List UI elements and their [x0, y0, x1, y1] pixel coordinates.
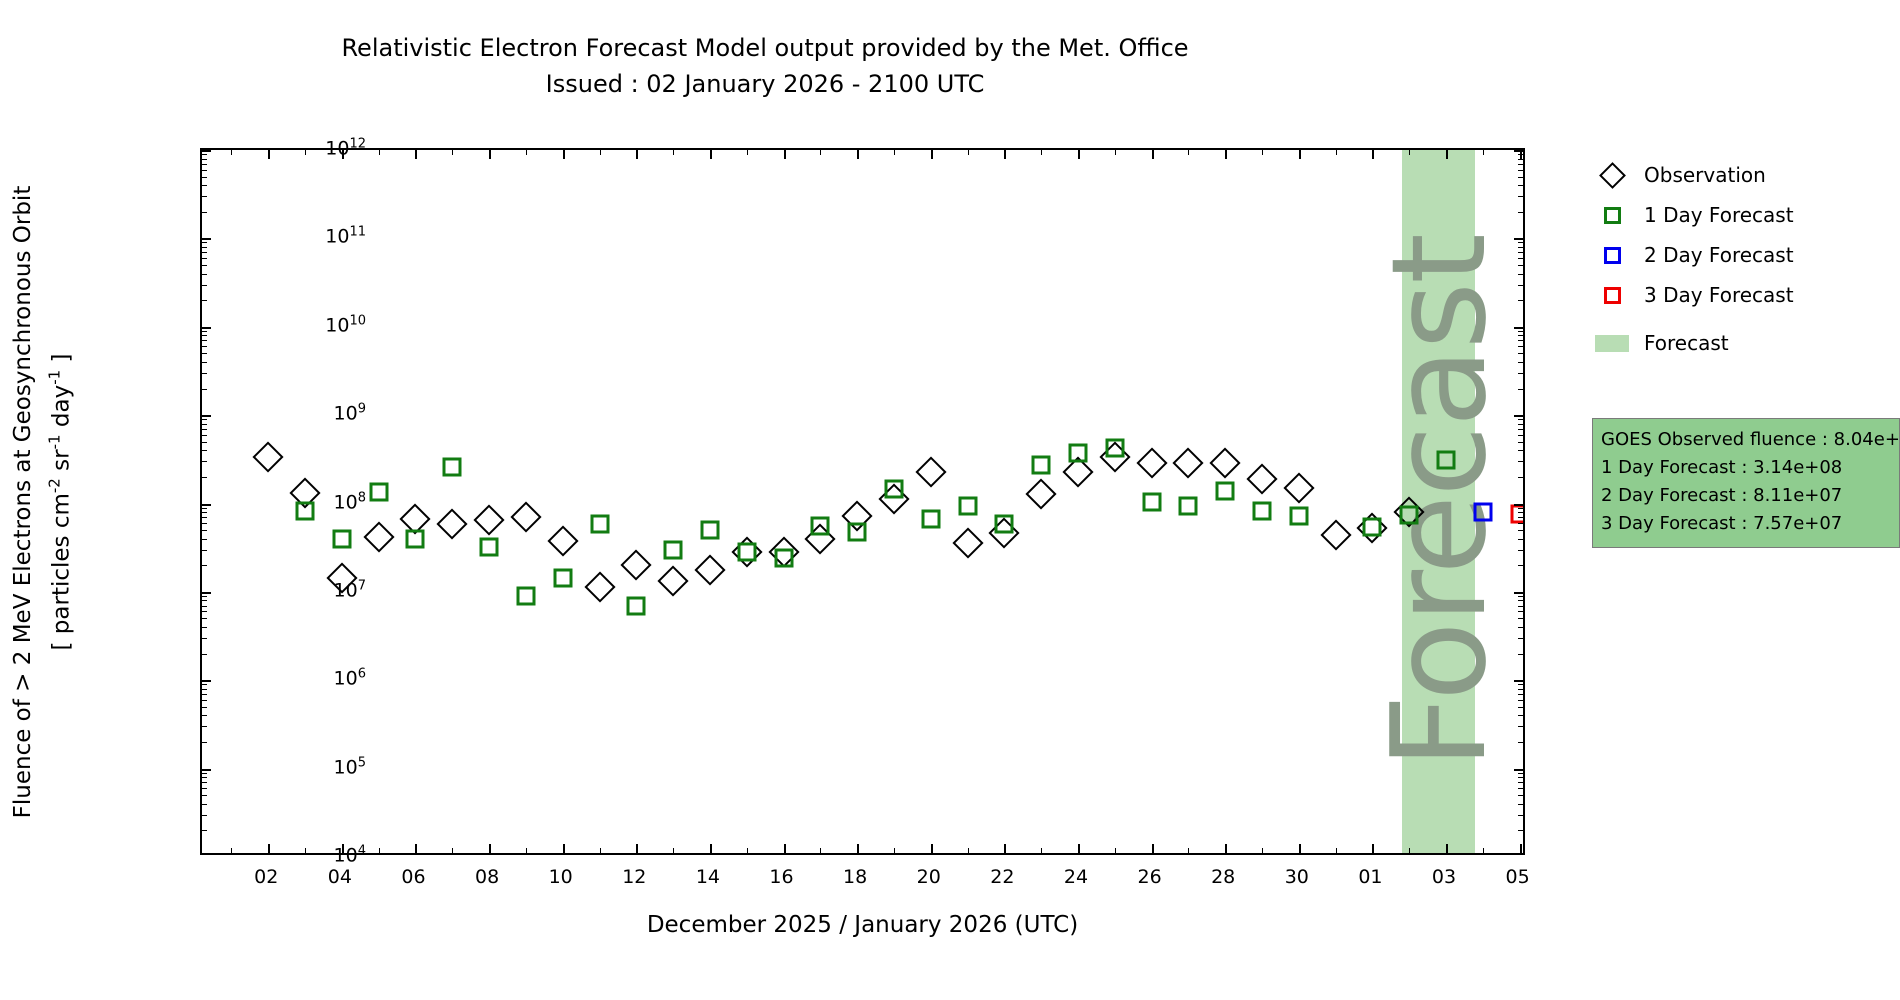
data-point-observation: [1283, 472, 1314, 503]
x-tick-minor: [452, 848, 453, 853]
x-tick-major: [1152, 150, 1154, 159]
y-tick-minor: [202, 523, 207, 524]
x-tick-major: [931, 844, 933, 853]
y-tick-minor: [202, 773, 207, 774]
y-tick-minor: [1518, 170, 1523, 171]
y-tick-minor: [202, 435, 207, 436]
legend-item-2-day-forecast[interactable]: 2 Day Forecast: [1592, 235, 1892, 275]
y-tick-minor: [202, 274, 207, 275]
y-tick-minor: [1518, 424, 1523, 425]
x-tick-label: 28: [1211, 866, 1235, 888]
legend-item-3-day-forecast[interactable]: 3 Day Forecast: [1592, 275, 1892, 315]
x-tick-major: [1004, 150, 1006, 159]
y-tick-minor: [202, 830, 207, 831]
legend-item-observation[interactable]: Observation: [1592, 155, 1892, 195]
y-tick-minor: [1518, 212, 1523, 213]
data-point-1-day-forecast: [884, 480, 903, 499]
y-tick-label: 1011: [246, 225, 366, 248]
x-tick-label: 24: [1064, 866, 1088, 888]
y-tick-minor: [1518, 700, 1523, 701]
y-tick-minor: [202, 331, 207, 332]
x-tick-label: 22: [990, 866, 1014, 888]
y-tick-minor: [202, 429, 207, 430]
x-tick-label: 06: [401, 866, 425, 888]
x-tick-major: [415, 150, 417, 159]
data-point-observation: [437, 508, 468, 539]
legend-label: 1 Day Forecast: [1644, 203, 1794, 227]
y-tick-minor: [1518, 550, 1523, 551]
y-tick-minor: [1518, 177, 1523, 178]
y-tick-minor: [202, 346, 207, 347]
y-tick-minor: [202, 606, 207, 607]
x-tick-minor: [1115, 848, 1116, 853]
x-tick-minor: [747, 150, 748, 155]
y-axis-exp-3: -1: [46, 369, 64, 384]
y-tick-minor: [202, 565, 207, 566]
square-icon: [1604, 287, 1621, 304]
y-tick-major: [202, 238, 211, 240]
y-tick-minor: [202, 654, 207, 655]
y-tick-minor: [1518, 777, 1523, 778]
data-point-1-day-forecast: [921, 509, 940, 528]
y-tick-minor: [1518, 185, 1523, 186]
x-tick-label: 04: [328, 866, 352, 888]
x-tick-minor: [1188, 150, 1189, 155]
y-tick-minor: [202, 517, 207, 518]
x-tick-major: [489, 844, 491, 853]
data-point-1-day-forecast: [774, 549, 793, 568]
legend-swatch: [1592, 166, 1632, 185]
x-tick-major: [1372, 844, 1374, 853]
y-tick-minor: [1518, 252, 1523, 253]
data-point-1-day-forecast: [995, 515, 1014, 534]
x-tick-minor: [452, 150, 453, 155]
x-tick-minor: [894, 150, 895, 155]
x-tick-minor: [526, 150, 527, 155]
y-tick-minor: [202, 362, 207, 363]
data-point-1-day-forecast: [480, 538, 499, 557]
y-tick-minor: [1518, 539, 1523, 540]
data-point-1-day-forecast: [1289, 506, 1308, 525]
legend-item-forecast[interactable]: Forecast: [1592, 323, 1892, 363]
data-point-1-day-forecast: [1363, 518, 1382, 537]
y-tick-minor: [202, 689, 207, 690]
y-tick-major: [202, 680, 211, 682]
y-tick-minor: [1518, 517, 1523, 518]
y-tick-minor: [1518, 477, 1523, 478]
y-tick-minor: [1518, 689, 1523, 690]
data-point-1-day-forecast: [516, 586, 535, 605]
y-tick-minor: [1518, 164, 1523, 165]
data-point-1-day-forecast: [443, 457, 462, 476]
y-tick-label: 104: [246, 843, 366, 866]
x-tick-major: [857, 150, 859, 159]
x-tick-label: 14: [696, 866, 720, 888]
plot-area: Forecast: [200, 148, 1525, 855]
data-point-1-day-forecast: [406, 529, 425, 548]
y-tick-minor: [202, 550, 207, 551]
y-tick-minor: [1518, 773, 1523, 774]
chart-legend: Observation1 Day Forecast2 Day Forecast3…: [1592, 155, 1892, 363]
y-tick-major: [1514, 769, 1523, 771]
page-title: Relativistic Electron Forecast Model out…: [0, 30, 1530, 66]
data-point-1-day-forecast: [1253, 502, 1272, 521]
y-tick-minor: [1518, 258, 1523, 259]
x-tick-label: 26: [1137, 866, 1161, 888]
square-icon: [1604, 207, 1621, 224]
y-tick-minor: [202, 477, 207, 478]
data-point-observation: [584, 571, 615, 602]
x-tick-major: [784, 844, 786, 853]
y-tick-major: [1514, 680, 1523, 682]
y-tick-minor: [1518, 638, 1523, 639]
y-tick-minor: [1518, 804, 1523, 805]
x-tick-minor: [1188, 848, 1189, 853]
y-tick-minor: [1518, 654, 1523, 655]
y-axis-unit-suffix: ]: [48, 353, 74, 369]
y-tick-minor: [202, 353, 207, 354]
y-tick-minor: [202, 461, 207, 462]
y-tick-minor: [1518, 373, 1523, 374]
legend-swatch: [1592, 287, 1632, 304]
y-tick-minor: [1518, 684, 1523, 685]
x-tick-minor: [1336, 848, 1337, 853]
x-tick-label: 12: [622, 866, 646, 888]
x-tick-minor: [1409, 150, 1410, 155]
y-tick-minor: [202, 300, 207, 301]
x-tick-major: [489, 150, 491, 159]
info-line: 3 Day Forecast : 7.57e+07: [1601, 510, 1891, 538]
y-axis-title: Fluence of > 2 MeV Electrons at Geosynch…: [0, 148, 130, 855]
data-point-observation: [1320, 519, 1351, 550]
data-point-observation: [1026, 478, 1057, 509]
y-tick-minor: [202, 508, 207, 509]
x-tick-label: 30: [1285, 866, 1309, 888]
x-tick-major: [1225, 150, 1227, 159]
info-line: 1 Day Forecast : 3.14e+08: [1601, 454, 1891, 482]
y-tick-minor: [202, 450, 207, 451]
y-tick-minor: [1518, 450, 1523, 451]
legend-label: 3 Day Forecast: [1644, 283, 1794, 307]
y-tick-minor: [202, 530, 207, 531]
x-tick-minor: [379, 150, 380, 155]
y-tick-minor: [1518, 353, 1523, 354]
y-tick-major: [1514, 150, 1523, 152]
y-tick-minor: [1518, 815, 1523, 816]
data-point-1-day-forecast: [737, 543, 756, 562]
y-tick-minor: [1518, 611, 1523, 612]
x-tick-major: [710, 844, 712, 853]
data-point-1-day-forecast: [848, 523, 867, 542]
y-tick-minor: [202, 442, 207, 443]
y-tick-minor: [202, 512, 207, 513]
y-tick-minor: [202, 715, 207, 716]
y-tick-minor: [202, 684, 207, 685]
y-tick-minor: [1518, 565, 1523, 566]
data-point-1-day-forecast: [369, 482, 388, 501]
x-tick-minor: [968, 848, 969, 853]
x-tick-major: [1004, 844, 1006, 853]
data-point-1-day-forecast: [1142, 492, 1161, 511]
y-tick-minor: [202, 164, 207, 165]
x-tick-minor: [1483, 150, 1484, 155]
y-tick-minor: [1518, 707, 1523, 708]
data-point-observation: [1136, 447, 1167, 478]
y-tick-minor: [202, 700, 207, 701]
y-tick-label: 1010: [246, 313, 366, 336]
y-tick-minor: [1518, 300, 1523, 301]
x-tick-label: 03: [1432, 866, 1456, 888]
legend-label: Forecast: [1644, 331, 1729, 355]
y-tick-major: [202, 769, 211, 771]
y-tick-major: [202, 592, 211, 594]
x-tick-minor: [820, 848, 821, 853]
y-tick-major: [1514, 504, 1523, 506]
x-tick-major: [636, 844, 638, 853]
y-tick-major: [1514, 592, 1523, 594]
y-tick-minor: [1518, 508, 1523, 509]
x-tick-minor: [894, 848, 895, 853]
y-axis-exp-2: -1: [46, 434, 64, 449]
x-tick-minor: [747, 848, 748, 853]
x-tick-minor: [820, 150, 821, 155]
legend-swatch: [1592, 247, 1632, 264]
data-point-observation: [1246, 463, 1277, 494]
y-tick-minor: [1518, 694, 1523, 695]
y-axis-title-line2: [ particles cm-2 sr-1 day-1 ]: [46, 353, 75, 650]
y-tick-label: 106: [246, 667, 366, 690]
data-point-1-day-forecast: [664, 540, 683, 559]
y-tick-minor: [202, 618, 207, 619]
legend-swatch: [1592, 335, 1632, 352]
x-tick-major: [1446, 844, 1448, 853]
x-tick-label: 10: [549, 866, 573, 888]
y-tick-label: 107: [246, 578, 366, 601]
y-tick-minor: [202, 212, 207, 213]
plot-inner: Forecast: [202, 150, 1523, 853]
y-tick-label: 108: [246, 490, 366, 513]
y-tick-minor: [1518, 335, 1523, 336]
y-tick-label: 105: [246, 755, 366, 778]
y-tick-minor: [1518, 196, 1523, 197]
x-tick-major: [415, 844, 417, 853]
data-point-observation: [547, 525, 578, 556]
y-tick-minor: [1518, 795, 1523, 796]
data-point-1-day-forecast: [553, 568, 572, 587]
x-tick-minor: [673, 150, 674, 155]
x-tick-minor: [526, 848, 527, 853]
y-tick-major: [1514, 238, 1523, 240]
y-tick-minor: [202, 539, 207, 540]
y-tick-major: [202, 150, 211, 152]
y-tick-minor: [202, 777, 207, 778]
x-tick-major: [710, 150, 712, 159]
data-point-1-day-forecast: [1400, 505, 1419, 524]
y-tick-minor: [1518, 442, 1523, 443]
y-tick-minor: [202, 707, 207, 708]
x-tick-major: [1299, 844, 1301, 853]
x-tick-minor: [1336, 150, 1337, 155]
legend-label: Observation: [1644, 163, 1766, 187]
y-tick-minor: [202, 389, 207, 390]
x-tick-major: [563, 844, 565, 853]
y-tick-minor: [202, 742, 207, 743]
data-point-observation: [1210, 447, 1241, 478]
data-point-1-day-forecast: [1437, 450, 1456, 469]
y-tick-minor: [202, 611, 207, 612]
y-tick-minor: [202, 285, 207, 286]
y-tick-minor: [202, 247, 207, 248]
y-tick-minor: [1518, 523, 1523, 524]
x-tick-major: [1299, 150, 1301, 159]
x-tick-minor: [231, 150, 232, 155]
x-tick-label: 05: [1506, 866, 1530, 888]
y-tick-minor: [202, 424, 207, 425]
y-tick-minor: [202, 265, 207, 266]
x-tick-label: 01: [1358, 866, 1382, 888]
x-tick-minor: [968, 150, 969, 155]
y-tick-minor: [202, 242, 207, 243]
y-tick-minor: [202, 177, 207, 178]
y-tick-minor: [202, 335, 207, 336]
y-tick-minor: [1518, 606, 1523, 607]
x-tick-label: 02: [254, 866, 278, 888]
data-point-2-day-forecast: [1473, 502, 1492, 521]
y-tick-minor: [202, 159, 207, 160]
x-tick-minor: [1409, 848, 1410, 853]
x-tick-major: [636, 150, 638, 159]
y-tick-minor: [1518, 715, 1523, 716]
data-point-1-day-forecast: [811, 516, 830, 535]
data-point-1-day-forecast: [1216, 481, 1235, 500]
data-point-observation: [621, 550, 652, 581]
y-tick-minor: [1518, 346, 1523, 347]
x-tick-major: [931, 150, 933, 159]
y-tick-minor: [202, 196, 207, 197]
data-point-observation: [952, 527, 983, 558]
y-tick-minor: [202, 788, 207, 789]
y-tick-minor: [202, 638, 207, 639]
y-tick-minor: [1518, 512, 1523, 513]
x-tick-minor: [1483, 848, 1484, 853]
data-point-observation: [253, 441, 284, 472]
info-line: GOES Observed fluence : 8.04e+07: [1601, 426, 1891, 454]
y-tick-minor: [1518, 274, 1523, 275]
x-tick-major: [1152, 844, 1154, 853]
y-tick-minor: [1518, 461, 1523, 462]
y-tick-minor: [202, 419, 207, 420]
y-axis-unit-mid2: day: [48, 384, 74, 434]
x-tick-major: [1520, 844, 1522, 853]
data-point-observation: [510, 502, 541, 533]
data-point-1-day-forecast: [700, 521, 719, 540]
y-axis-unit-mid: sr: [48, 449, 74, 478]
legend-label: 2 Day Forecast: [1644, 243, 1794, 267]
info-line: 2 Day Forecast : 8.11e+07: [1601, 482, 1891, 510]
x-tick-minor: [1041, 150, 1042, 155]
data-point-observation: [658, 566, 689, 597]
data-point-1-day-forecast: [1179, 496, 1198, 515]
x-tick-major: [1372, 150, 1374, 159]
y-tick-minor: [1518, 782, 1523, 783]
fluence-summary-box: GOES Observed fluence : 8.04e+071 Day Fo…: [1592, 418, 1900, 548]
x-tick-major: [563, 150, 565, 159]
y-tick-minor: [202, 795, 207, 796]
data-point-observation: [1173, 447, 1204, 478]
y-tick-minor: [202, 340, 207, 341]
y-tick-minor: [202, 596, 207, 597]
y-tick-major: [202, 504, 211, 506]
x-tick-minor: [379, 848, 380, 853]
y-tick-minor: [1518, 530, 1523, 531]
y-axis-unit-prefix: [ particles cm: [48, 493, 74, 650]
data-point-1-day-forecast: [1032, 456, 1051, 475]
x-tick-major: [1078, 150, 1080, 159]
x-tick-minor: [1115, 150, 1116, 155]
y-tick-minor: [1518, 265, 1523, 266]
y-tick-minor: [1518, 362, 1523, 363]
x-axis-title: December 2025 / January 2026 (UTC): [200, 912, 1525, 938]
x-tick-major: [784, 150, 786, 159]
y-tick-minor: [1518, 788, 1523, 789]
x-tick-major: [1446, 150, 1448, 159]
y-tick-minor: [202, 694, 207, 695]
y-tick-minor: [202, 782, 207, 783]
page-subtitle: Issued : 02 January 2026 - 2100 UTC: [0, 66, 1530, 102]
data-point-observation: [915, 456, 946, 487]
data-point-1-day-forecast: [958, 496, 977, 515]
square-icon: [1604, 247, 1621, 264]
x-tick-minor: [231, 848, 232, 853]
y-tick-minor: [1518, 596, 1523, 597]
y-tick-minor: [202, 252, 207, 253]
data-point-1-day-forecast: [332, 529, 351, 548]
data-point-1-day-forecast: [1068, 444, 1087, 463]
y-tick-minor: [1518, 331, 1523, 332]
y-tick-minor: [1518, 285, 1523, 286]
x-tick-major: [1520, 150, 1522, 159]
legend-swatch: [1592, 207, 1632, 224]
x-tick-minor: [673, 848, 674, 853]
legend-item-1-day-forecast[interactable]: 1 Day Forecast: [1592, 195, 1892, 235]
chart-title-block: Relativistic Electron Forecast Model out…: [0, 30, 1530, 102]
diamond-icon: [1599, 162, 1626, 189]
y-tick-minor: [1518, 618, 1523, 619]
x-tick-minor: [1262, 848, 1263, 853]
y-tick-minor: [202, 627, 207, 628]
y-tick-minor: [202, 726, 207, 727]
y-tick-major: [202, 327, 211, 329]
y-axis-title-line1: Fluence of > 2 MeV Electrons at Geosynch…: [10, 185, 36, 818]
x-tick-label: 18: [843, 866, 867, 888]
data-point-observation: [694, 555, 725, 586]
y-tick-minor: [1518, 726, 1523, 727]
y-tick-minor: [202, 170, 207, 171]
y-tick-minor: [202, 373, 207, 374]
x-tick-label: 08: [475, 866, 499, 888]
y-tick-minor: [1518, 830, 1523, 831]
data-point-1-day-forecast: [590, 514, 609, 533]
x-tick-minor: [1262, 150, 1263, 155]
y-tick-minor: [202, 804, 207, 805]
y-tick-minor: [202, 815, 207, 816]
x-tick-minor: [1041, 848, 1042, 853]
y-tick-minor: [202, 258, 207, 259]
y-tick-minor: [1518, 742, 1523, 743]
y-tick-major: [202, 415, 211, 417]
y-tick-minor: [1518, 419, 1523, 420]
x-tick-minor: [600, 848, 601, 853]
